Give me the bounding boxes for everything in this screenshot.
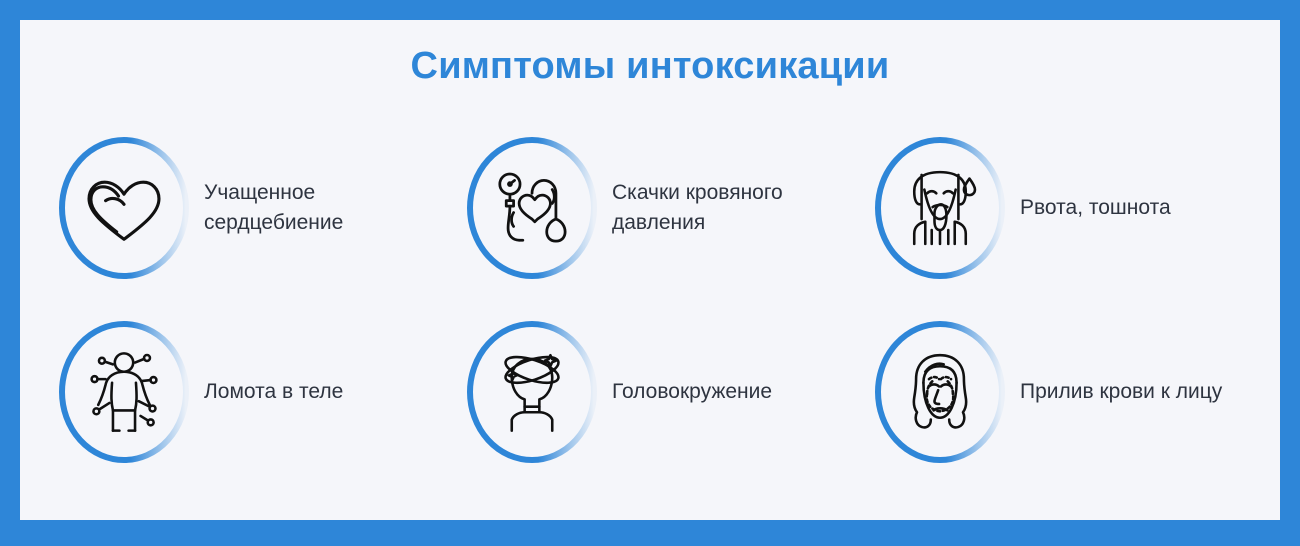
icon-badge-2: [462, 132, 602, 284]
symptom-label-4-line1: Ломота в теле: [204, 380, 343, 403]
symptom-label-5-line1: Головокружение: [612, 380, 772, 403]
symptom-label-2-line2: давления: [612, 208, 783, 238]
symptom-item-1: Учащенное сердцебиение: [38, 116, 446, 300]
symptom-label-1-line2: сердцебиение: [204, 208, 343, 238]
symptom-item-3: Рвота, тошнота: [854, 116, 1262, 300]
icon-badge-3: [870, 132, 1010, 284]
symptom-item-5: Головокружение: [446, 300, 854, 484]
symptom-item-2: Скачки кровяного давления: [446, 116, 854, 300]
body-aches-icon: [78, 346, 170, 438]
icon-badge-5: [462, 316, 602, 468]
flushed-face-icon: [894, 346, 986, 438]
icon-badge-6: [870, 316, 1010, 468]
symptom-item-4: Ломота в теле: [38, 300, 446, 484]
infographic-poster: Симптомы интоксикации: [0, 0, 1300, 546]
symptom-label-3: Рвота, тошнота: [1020, 193, 1171, 223]
icon-badge-4: [54, 316, 194, 468]
poster-content-area: Симптомы интоксикации: [20, 20, 1280, 520]
icon-badge-1: [54, 132, 194, 284]
dizziness-head-icon: [486, 346, 578, 438]
nausea-person-icon: [894, 162, 986, 254]
symptoms-grid: Учащенное сердцебиение: [38, 116, 1262, 484]
symptom-label-4: Ломота в теле: [204, 377, 343, 407]
two-hearts-icon: [78, 162, 170, 254]
symptom-label-5: Головокружение: [612, 377, 772, 407]
symptom-label-1: Учащенное сердцебиение: [204, 178, 343, 239]
page-title: Симптомы интоксикации: [20, 46, 1280, 88]
blood-pressure-monitor-icon: [486, 162, 578, 254]
symptom-label-1-line1: Учащенное: [204, 181, 315, 204]
symptom-label-2-line1: Скачки кровяного: [612, 181, 783, 204]
symptom-item-6: Прилив крови к лицу: [854, 300, 1262, 484]
symptom-label-6: Прилив крови к лицу: [1020, 377, 1222, 407]
symptom-label-6-line1: Прилив крови к лицу: [1020, 380, 1222, 403]
symptom-label-3-line1: Рвота, тошнота: [1020, 196, 1171, 219]
symptom-label-2: Скачки кровяного давления: [612, 178, 783, 239]
